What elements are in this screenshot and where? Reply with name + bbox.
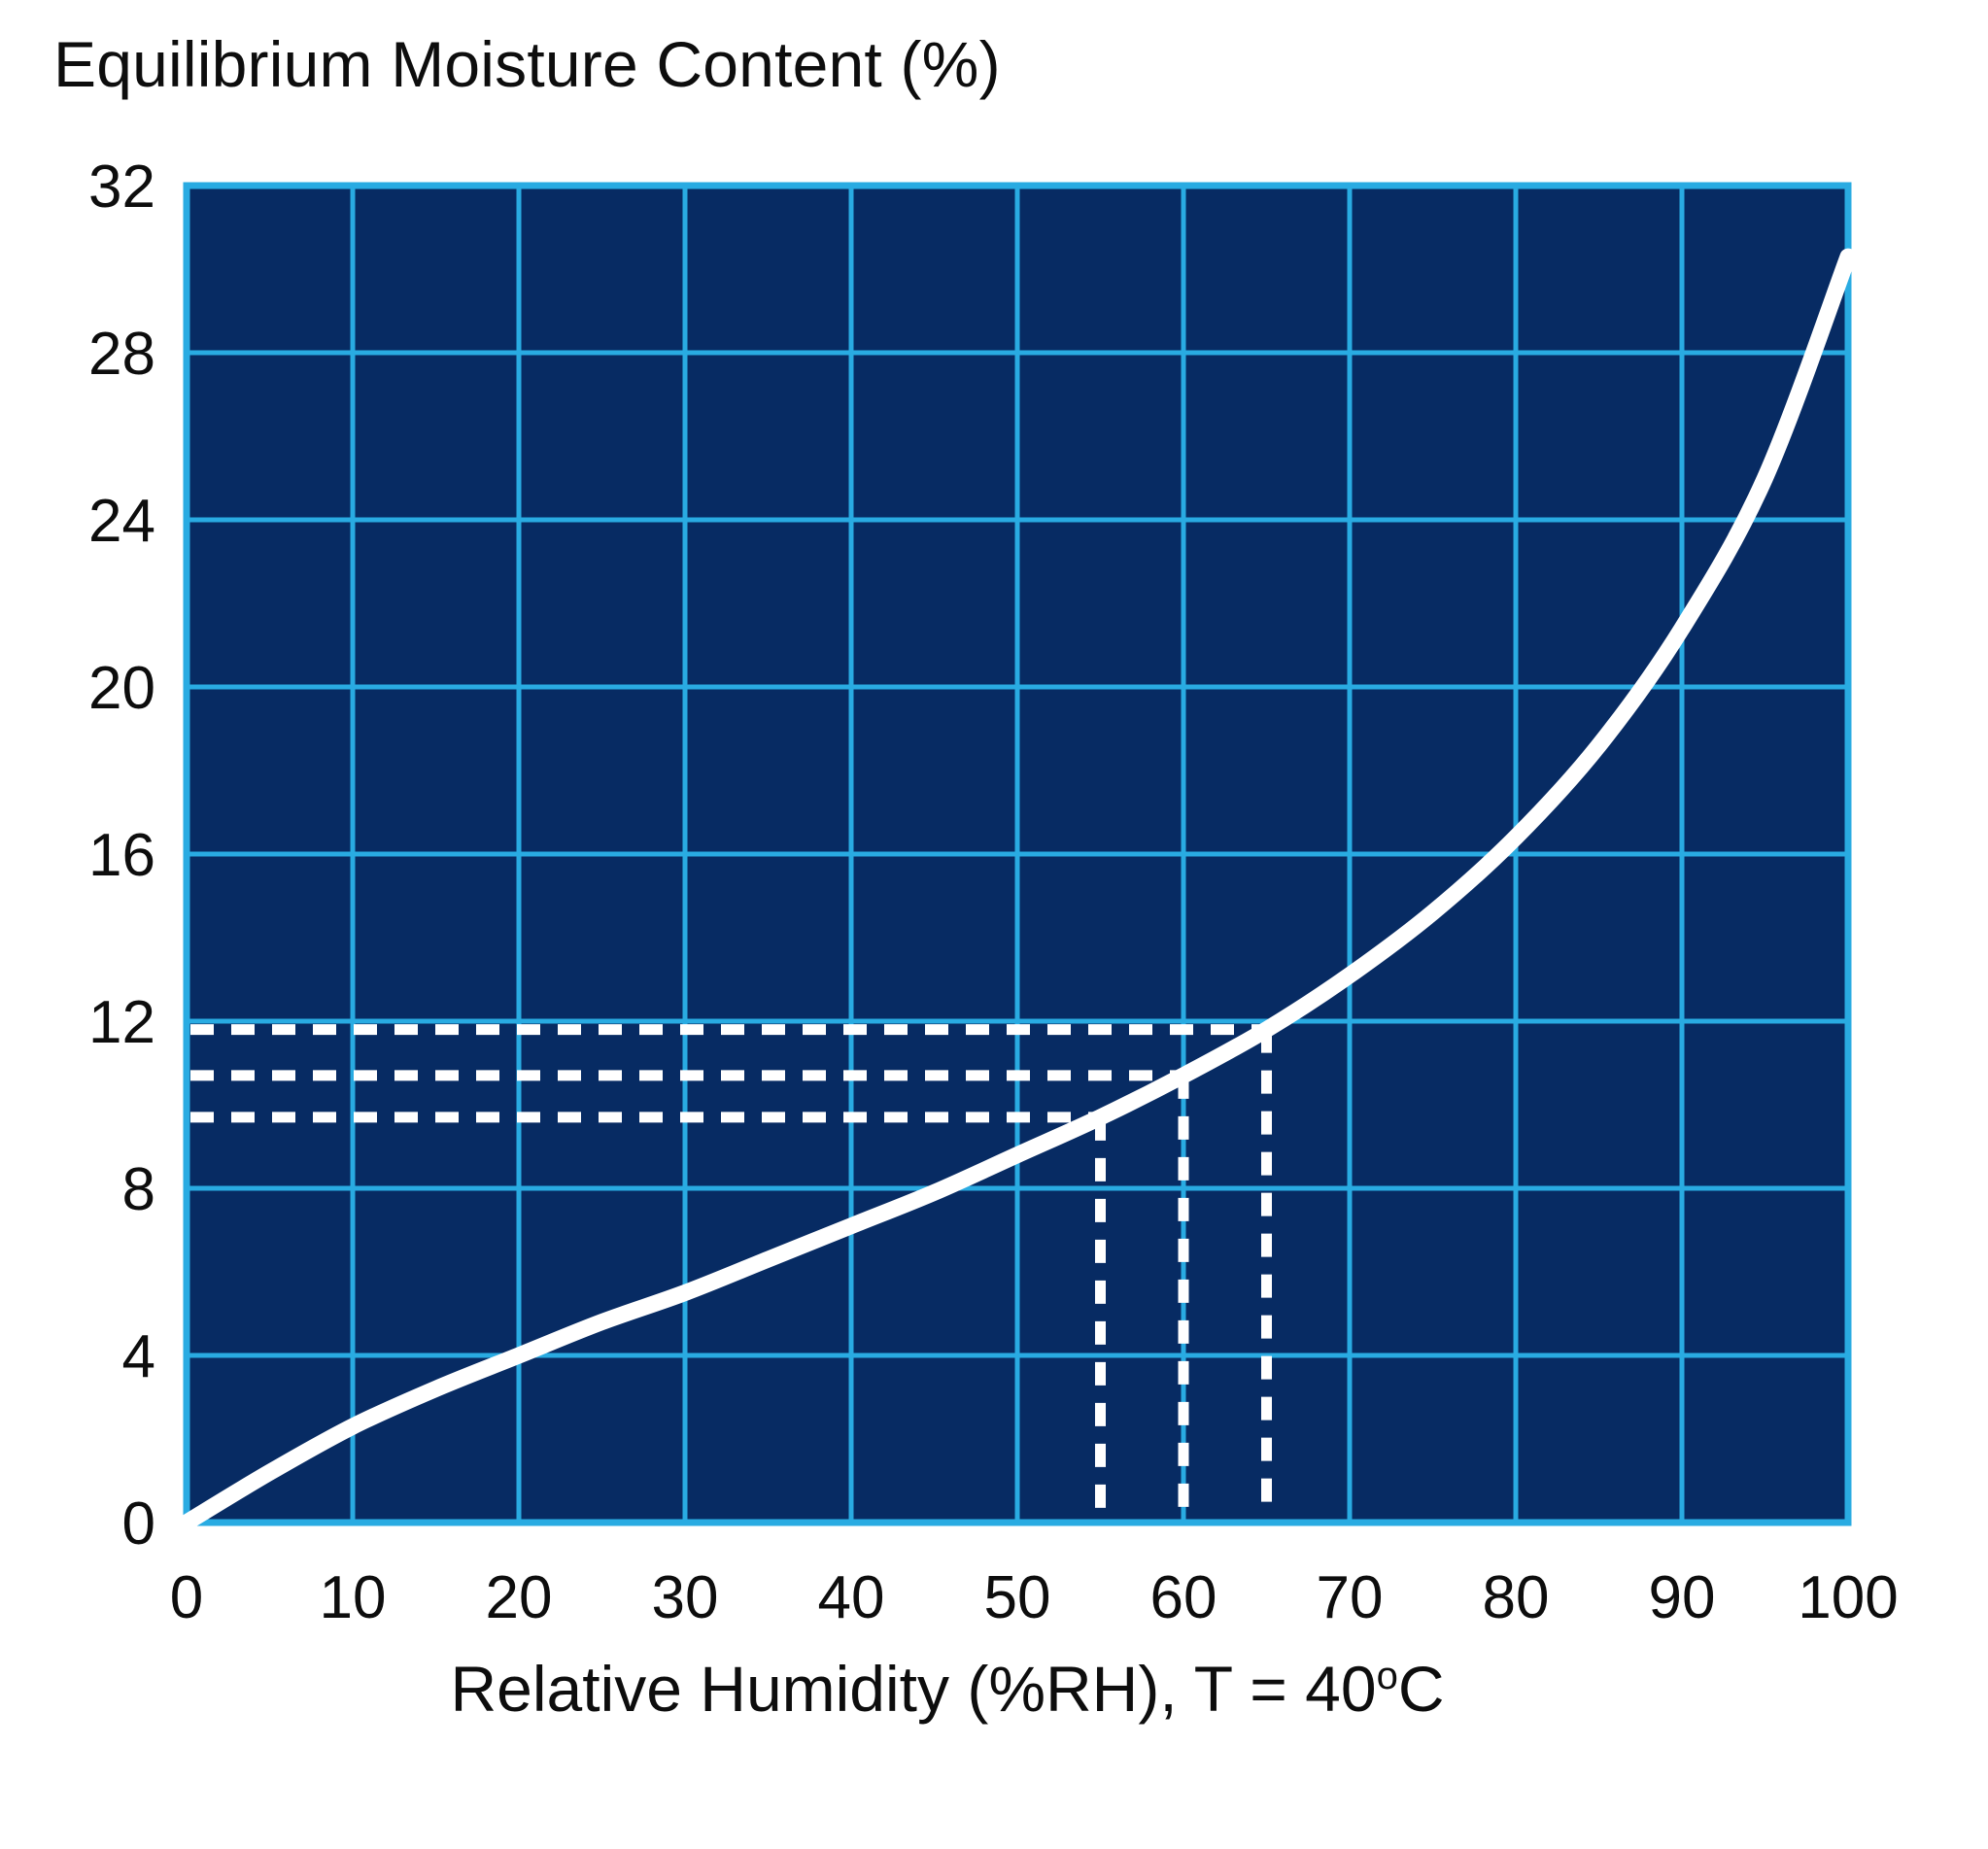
x-tick-label: 40	[818, 1564, 885, 1631]
x-tick-label: 10	[320, 1564, 387, 1631]
x-tick-label: 100	[1798, 1564, 1898, 1631]
x-tick-label: 70	[1317, 1564, 1384, 1631]
y-tick-label: 32	[88, 154, 155, 221]
y-axis-tick-labels: 048121620242832	[88, 154, 155, 1558]
chart-page: Equilibrium Moisture Content (%) 0481216…	[0, 0, 1988, 1849]
x-axis-tick-labels: 0102030405060708090100	[170, 1564, 1899, 1631]
y-tick-label: 28	[88, 321, 155, 388]
y-tick-label: 24	[88, 488, 155, 555]
y-tick-label: 20	[88, 655, 155, 722]
x-tick-label: 0	[170, 1564, 203, 1631]
plot-area-container: 048121620242832 0102030405060708090100	[0, 0, 1988, 1849]
y-tick-label: 8	[122, 1156, 155, 1223]
x-tick-label: 60	[1150, 1564, 1217, 1631]
chart-svg: 048121620242832 0102030405060708090100	[0, 0, 1988, 1849]
x-tick-label: 50	[984, 1564, 1051, 1631]
x-tick-label: 90	[1649, 1564, 1716, 1631]
x-tick-label: 80	[1483, 1564, 1550, 1631]
x-axis-title: Relative Humidity (%RH), T = 40oC	[0, 1652, 1895, 1726]
x-tick-label: 30	[652, 1564, 719, 1631]
y-tick-label: 12	[88, 989, 155, 1056]
y-tick-label: 16	[88, 822, 155, 889]
y-tick-label: 4	[122, 1323, 155, 1390]
x-tick-label: 20	[486, 1564, 553, 1631]
y-tick-label: 0	[122, 1490, 155, 1558]
